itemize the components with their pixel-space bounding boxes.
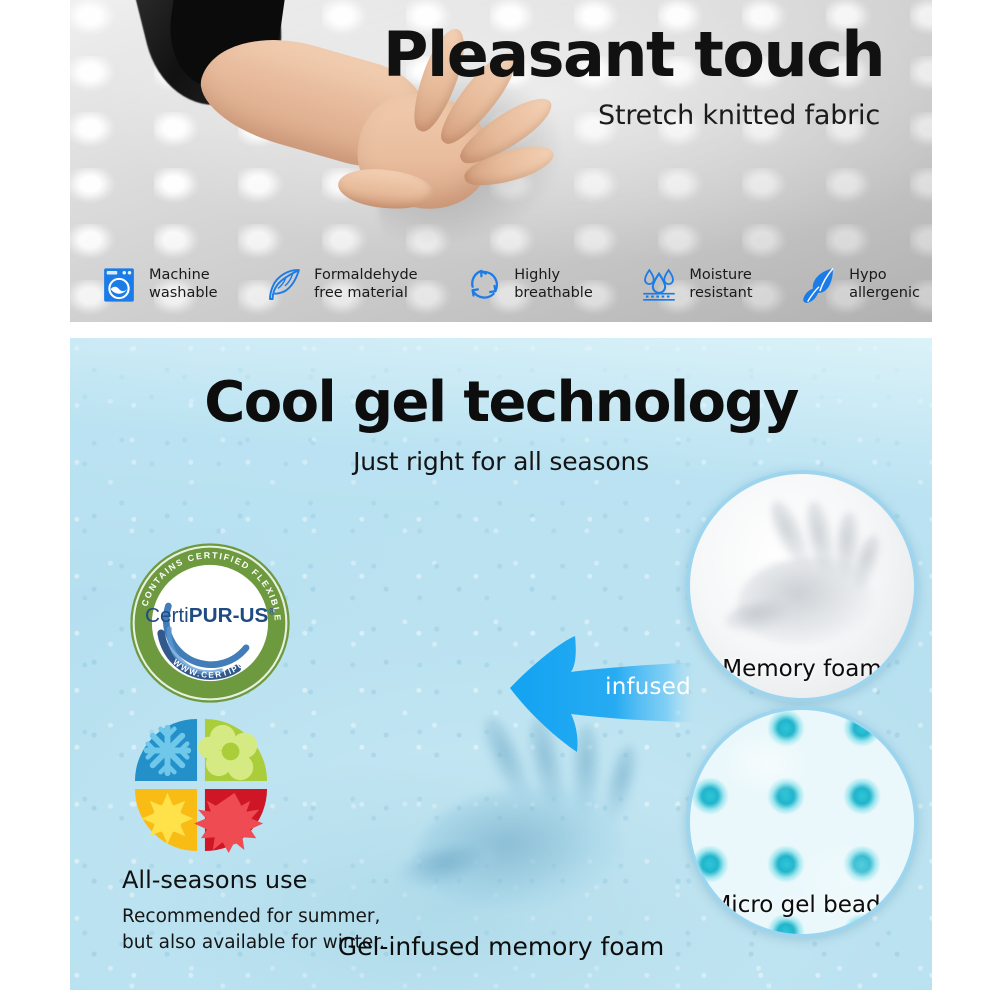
feature-label: Formaldehyde free material — [314, 267, 417, 302]
snowflake-icon — [147, 728, 188, 773]
memory-foam-hand-imprint — [713, 488, 898, 655]
feature-line-1: Moisture — [689, 267, 752, 285]
feature-line-1: Machine — [149, 267, 218, 285]
page-title: Pleasant touch — [383, 24, 884, 86]
feature-line-1: Highly — [514, 267, 593, 285]
feature-label: Machine washable — [149, 267, 218, 302]
all-seasons-desc-line-1: Recommended for summer, — [122, 904, 422, 930]
memory-foam-circle: Memory foam — [686, 470, 918, 702]
all-seasons-wheel-icon — [132, 716, 270, 854]
feature-line-2: breathable — [514, 285, 593, 303]
top-headline-block: Pleasant touch Stretch knitted fabric — [383, 24, 884, 129]
water-droplets-icon — [638, 264, 680, 306]
feature-formaldehyde-free: Formaldehyde free material — [263, 264, 417, 306]
washing-machine-icon — [98, 264, 140, 306]
seasons-wheel-graphic — [132, 716, 270, 854]
feature-highly-breathable: Highly breathable — [463, 264, 593, 306]
certipur-us-badge: CONTAINS CERTIFIED FLEXIBLE POLYURETHANE… — [127, 540, 293, 706]
feather-icon — [263, 264, 305, 306]
bottom-headline-block: Cool gel technology Just right for all s… — [70, 370, 932, 476]
pleasant-touch-panel: Pleasant touch Stretch knitted fabric Ma… — [70, 0, 932, 322]
feature-icon-strip: Machine washable Formaldehyde free mater… — [98, 264, 920, 306]
feature-hypo-allergenic: Hypo allergenic — [798, 264, 920, 306]
infused-label: infused — [593, 674, 703, 700]
feature-line-2: free material — [314, 285, 417, 303]
feature-line-2: resistant — [689, 285, 752, 303]
feature-machine-washable: Machine washable — [98, 264, 218, 306]
cool-gel-technology-panel: Cool gel technology Just right for all s… — [70, 338, 932, 990]
all-seasons-label: All-seasons use — [122, 866, 452, 894]
page-subtitle: Stretch knitted fabric — [383, 102, 880, 129]
feature-moisture-resistant: Moisture resistant — [638, 264, 752, 306]
feature-label: Moisture resistant — [689, 267, 752, 302]
feature-line-1: Hypo — [849, 267, 920, 285]
certipur-badge-graphic: CONTAINS CERTIFIED FLEXIBLE POLYURETHANE… — [127, 540, 293, 706]
feature-label: Highly breathable — [514, 267, 593, 302]
memory-foam-caption: Memory foam — [690, 656, 914, 682]
leaves-icon — [798, 264, 840, 306]
feature-label: Hypo allergenic — [849, 267, 920, 302]
gel-beads-caption: Micro gel beads — [690, 892, 914, 918]
micro-gel-beads-circle: Micro gel beads — [686, 706, 918, 938]
feature-line-2: washable — [149, 285, 218, 303]
certipur-center-text: CertiPUR-US® — [145, 604, 275, 627]
feature-line-1: Formaldehyde — [314, 267, 417, 285]
section-title: Cool gel technology — [70, 370, 932, 435]
infused-arrow: infused — [505, 626, 705, 760]
infographic-page: Pleasant touch Stretch knitted fabric Ma… — [0, 0, 1000, 1000]
recycle-arrows-icon — [463, 264, 505, 306]
feature-line-2: allergenic — [849, 285, 920, 303]
gel-infused-memory-foam-caption: Gel-infused memory foam — [70, 932, 932, 961]
